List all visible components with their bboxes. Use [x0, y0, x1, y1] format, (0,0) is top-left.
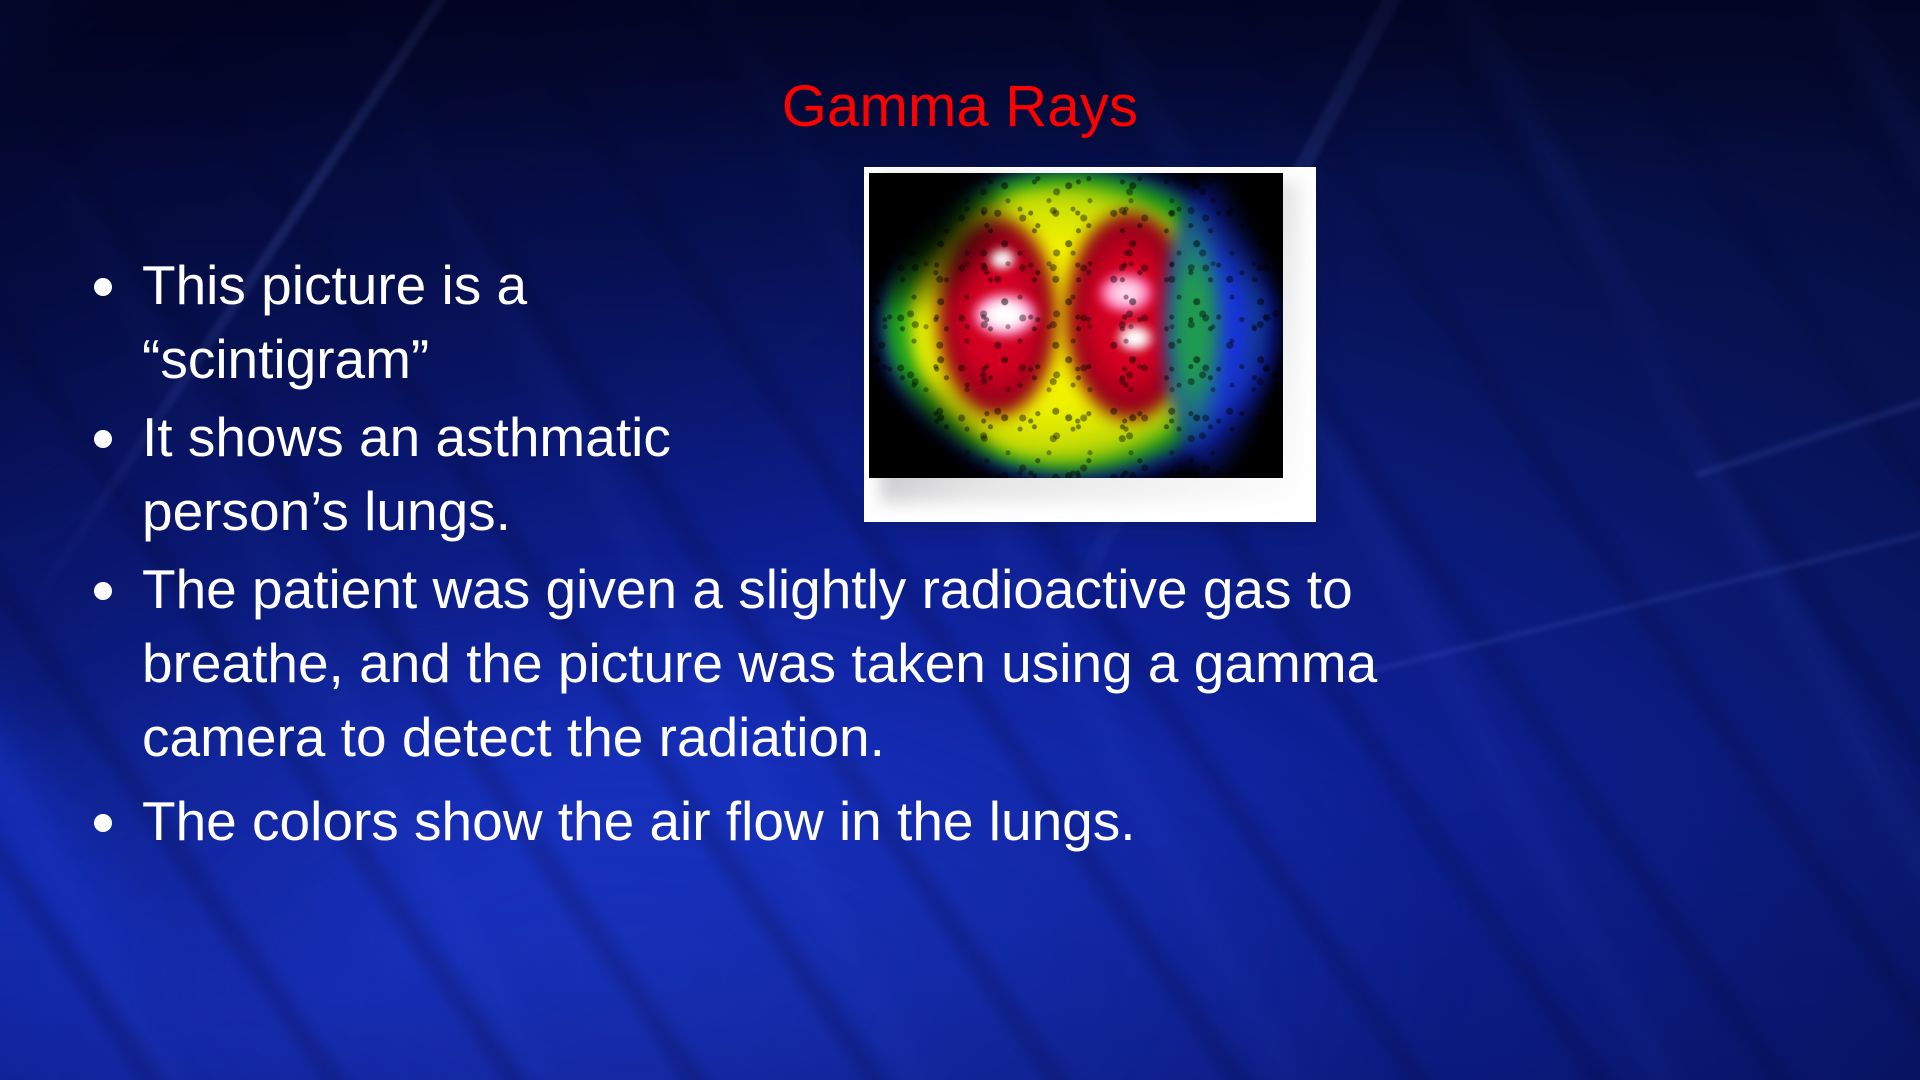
- bullet-dot-icon: [94, 814, 112, 832]
- bullet-text: The colors show the air flow in the lung…: [142, 784, 1534, 858]
- slide: Gamma Rays: [0, 0, 1920, 1080]
- bullet-list: This picture is a “scintigram” It shows …: [94, 248, 1854, 858]
- bullet-dot-icon: [94, 582, 112, 600]
- bullet-text: The patient was given a slightly radioac…: [142, 552, 1534, 774]
- bullet-dot-icon: [94, 430, 112, 448]
- bullet-dot-icon: [94, 278, 112, 296]
- list-item: It shows an asthmatic person’s lungs.: [94, 400, 814, 548]
- bullet-text: This picture is a “scintigram”: [142, 248, 794, 396]
- list-item: The colors show the air flow in the lung…: [94, 784, 1534, 858]
- page-title: Gamma Rays: [0, 74, 1920, 140]
- list-item: The patient was given a slightly radioac…: [94, 552, 1534, 774]
- bullet-text: It shows an asthmatic person’s lungs.: [142, 400, 814, 548]
- list-item: This picture is a “scintigram”: [94, 248, 794, 396]
